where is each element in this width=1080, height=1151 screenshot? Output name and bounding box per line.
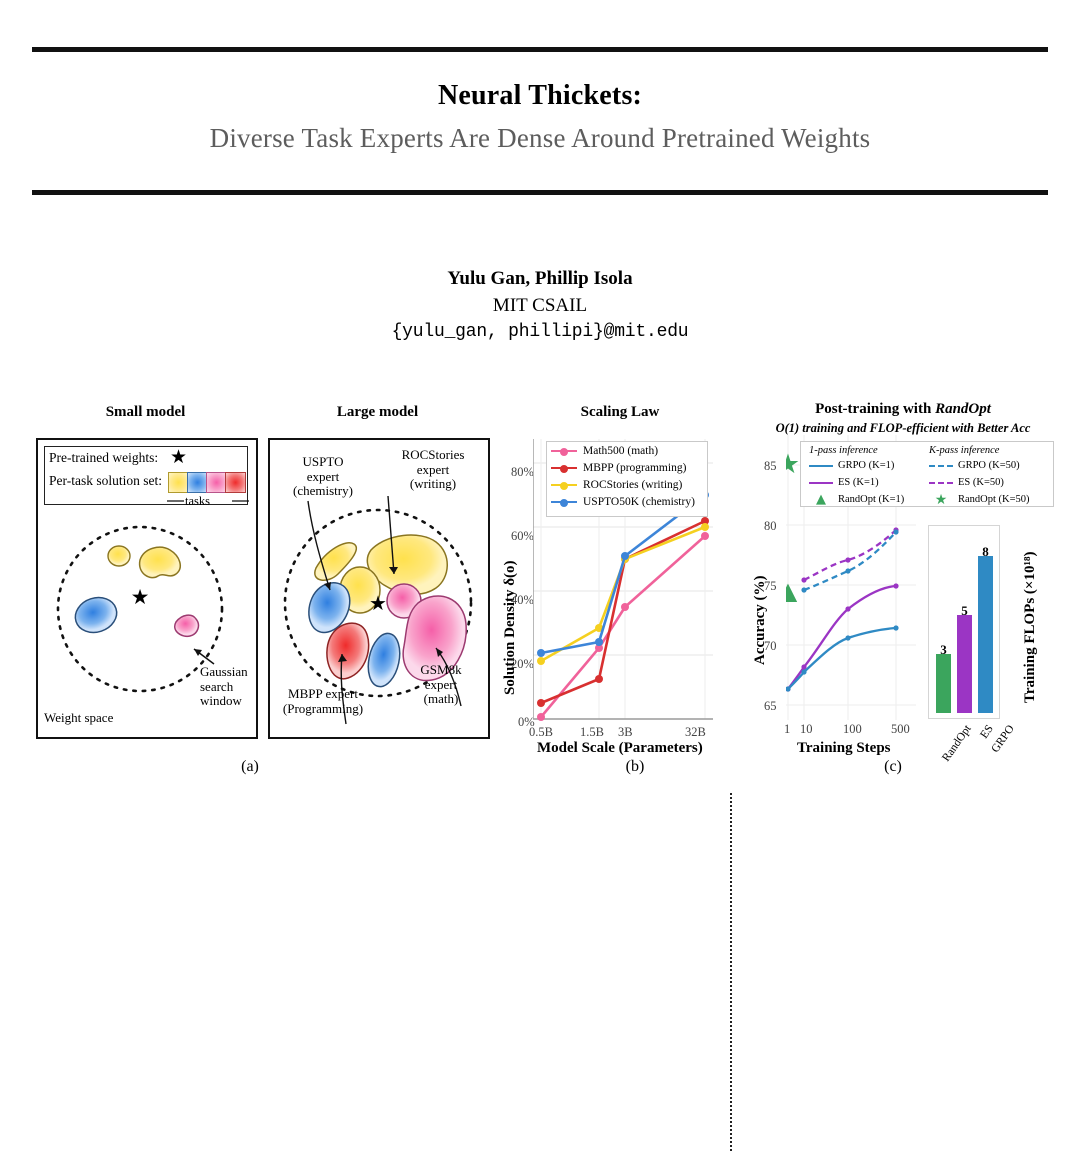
- scaling-ytick-60: 60%: [511, 529, 534, 544]
- pt-ytick-80: 80: [764, 519, 777, 534]
- post-training-legend: 1-pass inference K-pass inference GRPO (…: [800, 441, 1054, 507]
- legend-line-es-k1: [809, 482, 833, 484]
- bar-value-grpo: 8: [970, 544, 1001, 560]
- post-training-title: Post-training with RandOpt: [748, 401, 1058, 418]
- legend-item-mbpp[interactable]: MBPP (programming): [547, 459, 707, 476]
- scaling-xtick-32B: 32B: [685, 725, 706, 740]
- panel-a-title: Small model: [38, 404, 253, 421]
- page-title: Neural Thickets:: [0, 80, 1080, 112]
- scaling-law-ylabel: Solution Density δ(o): [502, 561, 519, 695]
- header-rule-bottom: [32, 190, 1048, 195]
- pt-ytick-75: 75: [764, 579, 777, 594]
- legend-item-randopt-k50[interactable]: ★ RandOpt (K=50): [929, 492, 1030, 508]
- pt-xtick-100: 100: [843, 722, 862, 737]
- figure-container: Small model Pre-trained weights: ★ Per-t…: [0, 395, 1080, 787]
- panel-a-label: (a): [220, 758, 280, 776]
- legend-header-kpass: K-pass inference: [929, 445, 999, 456]
- legend-line-es-k50: [929, 482, 953, 484]
- svg-text:★: ★: [369, 591, 387, 615]
- scaling-xtick-1.5B: 1.5B: [580, 725, 604, 740]
- gsm8k-expert-annotation: GSM8k expert (math): [404, 663, 478, 707]
- panel-c-label: (c): [863, 758, 923, 776]
- svg-text:★: ★: [786, 449, 800, 480]
- legend-line-uspto50k: [551, 501, 577, 503]
- scaling-xtick-3B: 3B: [618, 725, 633, 740]
- pt-xtick-1: 1: [784, 722, 790, 737]
- scaling-law-legend: Math500 (math) MBPP (programming) ROCSto…: [546, 441, 708, 517]
- legend-item-es-k1[interactable]: ES (K=1): [809, 477, 929, 488]
- scaling-xtick-0.5B: 0.5B: [529, 725, 553, 740]
- panel-b-label: (b): [605, 758, 665, 776]
- post-training-subtitle: O(1) training and FLOP-efficient with Be…: [740, 421, 1066, 436]
- star-icon-green: ★: [929, 492, 953, 508]
- legend-line-mbpp: [551, 467, 577, 469]
- mbpp-expert-annotation: MBPP expert (Programming): [268, 687, 378, 716]
- author-list: Yulu Gan, Phillip Isola: [0, 268, 1080, 290]
- legend-header-1pass: 1-pass inference: [809, 445, 929, 456]
- affiliation: MIT CSAIL: [0, 295, 1080, 317]
- legend-item-uspto50k[interactable]: USPTO50K (chemistry): [547, 493, 707, 510]
- legend-item-rocstories[interactable]: ROCStories (writing): [547, 476, 707, 493]
- page-subtitle: Diverse Task Experts Are Dense Around Pr…: [0, 123, 1080, 154]
- legend-item-es-k50[interactable]: ES (K=50): [929, 477, 1004, 488]
- legend-line-rocstories: [551, 484, 577, 486]
- panel-divider: [730, 793, 732, 1151]
- scaling-ytick-40: 40%: [511, 593, 534, 608]
- uspto-expert-annotation: USPTO expert (chemistry): [281, 455, 365, 499]
- legend-item-grpo-k50[interactable]: GRPO (K=50): [929, 460, 1020, 471]
- svg-text:▲: ▲: [786, 577, 798, 605]
- scaling-ytick-80: 80%: [511, 465, 534, 480]
- legend-item-math500[interactable]: Math500 (math): [547, 442, 707, 459]
- post-training-xlabel: Training Steps: [797, 740, 891, 757]
- pt-ytick-85: 85: [764, 459, 777, 474]
- bar-value-randopt: 3: [928, 642, 959, 658]
- scaling-ytick-20: 20%: [511, 657, 534, 672]
- legend-line-grpo-k50: [929, 465, 953, 467]
- svg-text:★: ★: [131, 585, 150, 609]
- flops-ylabel: Training FLOPs (×10¹⁸): [1022, 552, 1039, 703]
- scaling-law-title: Scaling Law: [520, 404, 720, 421]
- legend-item-randopt-k1[interactable]: ▲ RandOpt (K=1): [809, 492, 929, 507]
- pt-ytick-65: 65: [764, 699, 777, 714]
- legend-line-grpo-k1: [809, 465, 833, 467]
- panel-b-title: Large model: [270, 404, 485, 421]
- rocstories-expert-annotation: ROCStories expert (writing): [388, 448, 478, 492]
- legend-line-math500: [551, 450, 577, 452]
- triangle-icon: ▲: [809, 492, 833, 507]
- contact-email: {yulu_gan, phillipi}@mit.edu: [0, 322, 1080, 342]
- pt-xtick-10: 10: [800, 722, 813, 737]
- header-rule-top: [32, 47, 1048, 52]
- legend-item-grpo-k1[interactable]: GRPO (K=1): [809, 460, 929, 471]
- pt-xtick-500: 500: [891, 722, 910, 737]
- pt-ytick-70: 70: [764, 639, 777, 654]
- gaussian-window-annotation: Gaussian search window: [200, 665, 262, 709]
- scaling-law-xlabel: Model Scale (Parameters): [537, 740, 703, 757]
- weight-space-label: Weight space: [44, 711, 113, 726]
- bar-value-es: 5: [949, 603, 980, 619]
